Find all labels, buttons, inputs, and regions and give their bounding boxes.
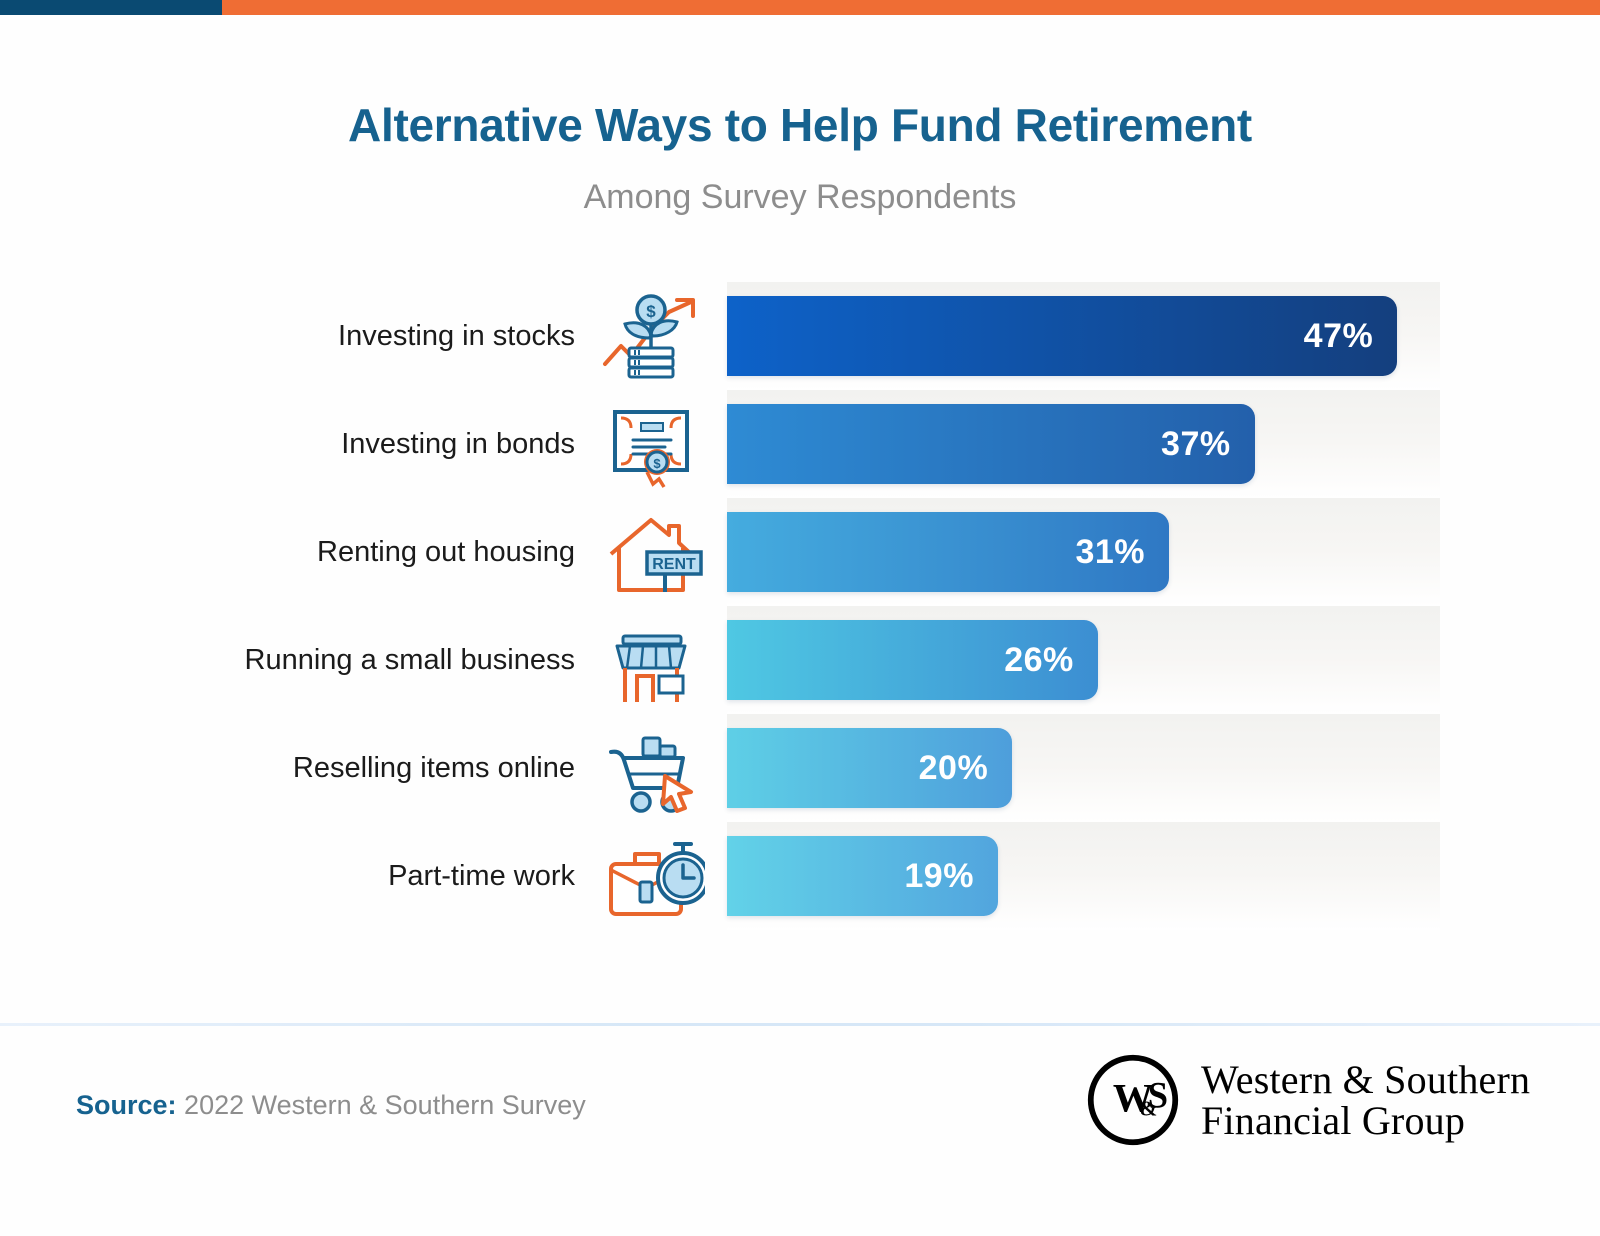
bar-category-label: Part-time work <box>0 860 575 893</box>
bar-row: Running a small business 26% <box>0 606 1600 714</box>
page-subtitle: Among Survey Respondents <box>0 178 1600 217</box>
svg-text:$: $ <box>653 456 661 471</box>
bar-category-label: Investing in bonds <box>0 428 575 461</box>
infographic-canvas: Alternative Ways to Help Fund Retirement… <box>0 0 1600 1236</box>
logo-wordmark: Western & Southern Financial Group <box>1201 1059 1530 1141</box>
storefront-icon <box>575 614 727 706</box>
bar-fill: 31% <box>727 512 1169 592</box>
bar-category-label: Reselling items online <box>0 752 575 785</box>
ws-monogram-icon: W & S <box>1085 1052 1181 1148</box>
top-accent-navy-segment <box>0 0 222 15</box>
bar-track-area: 37% <box>727 390 1600 498</box>
bar-row: Renting out housing RENT 31% <box>0 498 1600 606</box>
bar-track-area: 26% <box>727 606 1600 714</box>
bar-track-area: 20% <box>727 714 1600 822</box>
source-note: Source: 2022 Western & Southern Survey <box>76 1090 586 1121</box>
bar-value-label: 47% <box>1304 317 1398 356</box>
bond-certificate-icon: $ <box>575 398 727 490</box>
logo-line-2: Financial Group <box>1201 1100 1530 1141</box>
bar-value-label: 19% <box>904 857 998 896</box>
logo-line-1: Western & Southern <box>1201 1059 1530 1100</box>
bar-category-label: Renting out housing <box>0 536 575 569</box>
bar-chart: Investing in stocks $ 47%Investing in bo… <box>0 282 1600 962</box>
svg-text:$: $ <box>646 302 656 321</box>
money-plant-growth-icon: $ <box>575 290 727 382</box>
bar-track-area: 31% <box>727 498 1600 606</box>
house-rent-sign-icon: RENT <box>575 506 727 598</box>
footer-divider <box>0 1023 1600 1026</box>
company-logo: W & S Western & Southern Financial Group <box>1085 1052 1530 1148</box>
bar-value-label: 37% <box>1161 425 1255 464</box>
page-title: Alternative Ways to Help Fund Retirement <box>0 98 1600 152</box>
top-accent-orange-segment <box>222 0 1600 15</box>
bar-row: Part-time work 19% <box>0 822 1600 930</box>
source-text: 2022 Western & Southern Survey <box>184 1090 586 1120</box>
bar-row: Investing in bonds $ 37% <box>0 390 1600 498</box>
bar-fill: 19% <box>727 836 998 916</box>
bar-row: Investing in stocks $ 47% <box>0 282 1600 390</box>
source-label: Source: <box>76 1090 177 1120</box>
bar-category-label: Running a small business <box>0 644 575 677</box>
bar-value-label: 26% <box>1004 641 1098 680</box>
bar-track-area: 47% <box>727 282 1600 390</box>
bar-fill: 47% <box>727 296 1397 376</box>
bar-fill: 20% <box>727 728 1012 808</box>
shopping-cart-cursor-icon <box>575 722 727 814</box>
bar-value-label: 20% <box>919 749 1013 788</box>
briefcase-clock-icon <box>575 830 727 922</box>
bar-value-label: 31% <box>1075 533 1169 572</box>
bar-fill: 37% <box>727 404 1255 484</box>
bar-fill: 26% <box>727 620 1098 700</box>
top-accent-bar <box>0 0 1600 15</box>
svg-text:S: S <box>1148 1075 1168 1116</box>
svg-text:RENT: RENT <box>652 556 696 573</box>
bar-category-label: Investing in stocks <box>0 320 575 353</box>
bar-track-area: 19% <box>727 822 1600 930</box>
bar-row: Reselling items online 20% <box>0 714 1600 822</box>
